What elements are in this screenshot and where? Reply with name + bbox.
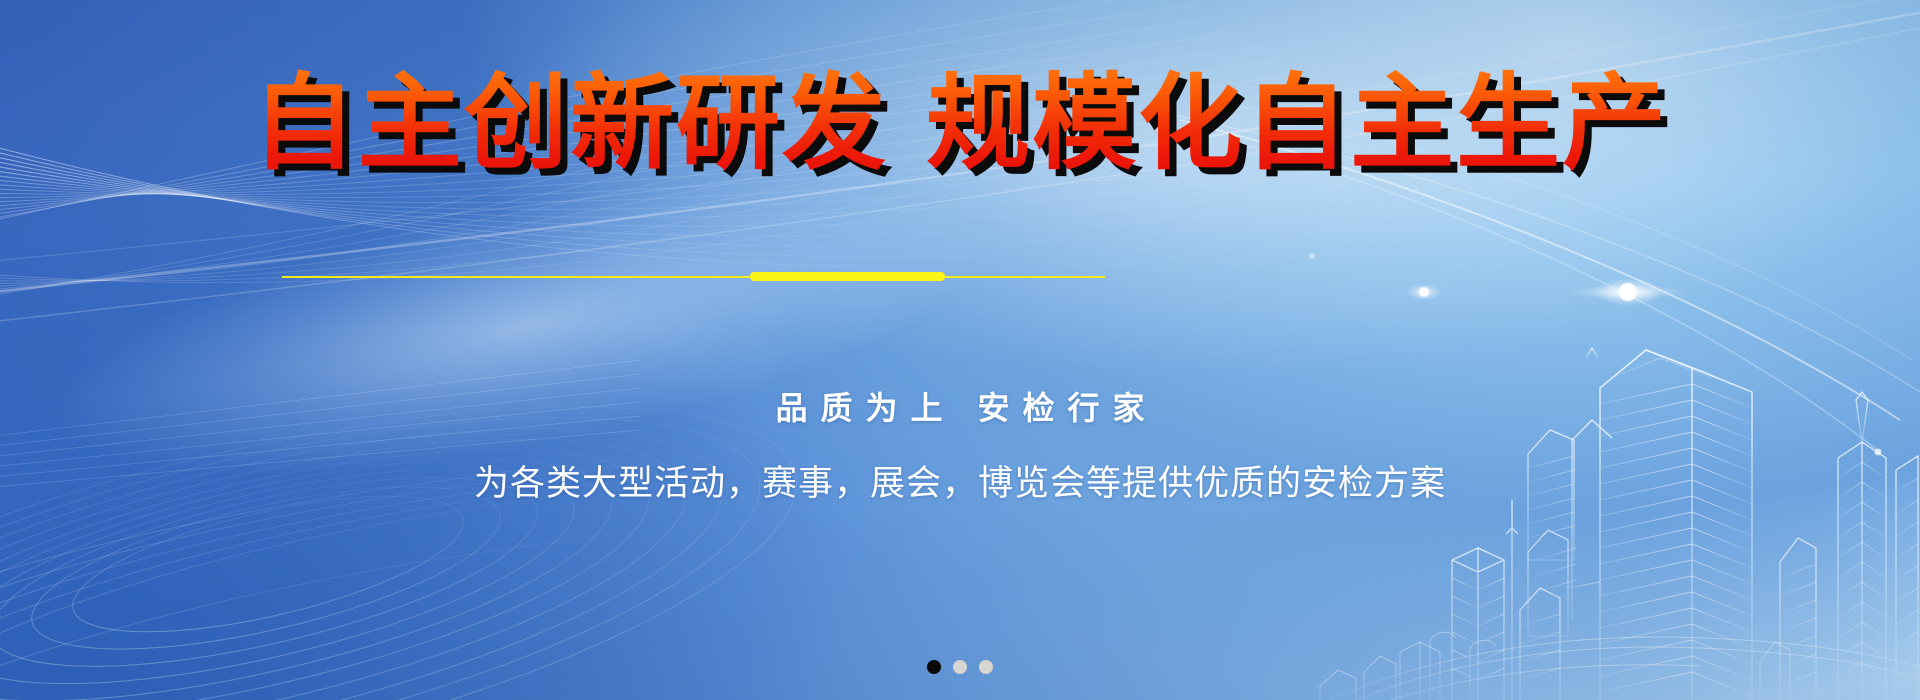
divider-thin-rule [282, 276, 1105, 278]
yellow-divider [282, 275, 1105, 278]
banner-content: 自主创新研发 规模化自主生产 自主创新研发 规模化自主生产 品质为上 安检行家 … [0, 0, 1920, 700]
divider-thick-segment [750, 272, 945, 281]
carousel-pagination[interactable] [0, 660, 1920, 674]
carousel-dot-2[interactable] [953, 660, 967, 674]
banner-subtitle-primary: 品质为上 安检行家 [0, 383, 1920, 429]
carousel-dot-1[interactable] [927, 660, 941, 674]
hero-banner: 自主创新研发 规模化自主生产 自主创新研发 规模化自主生产 品质为上 安检行家 … [0, 0, 1920, 700]
carousel-dot-3[interactable] [979, 660, 993, 674]
banner-subtitle-secondary: 为各类大型活动，赛事，展会，博览会等提供优质的安检方案 [0, 455, 1920, 506]
headline-text: 自主创新研发 规模化自主生产 [252, 62, 1668, 185]
banner-headline: 自主创新研发 规模化自主生产 自主创新研发 规模化自主生产 [0, 62, 1920, 185]
